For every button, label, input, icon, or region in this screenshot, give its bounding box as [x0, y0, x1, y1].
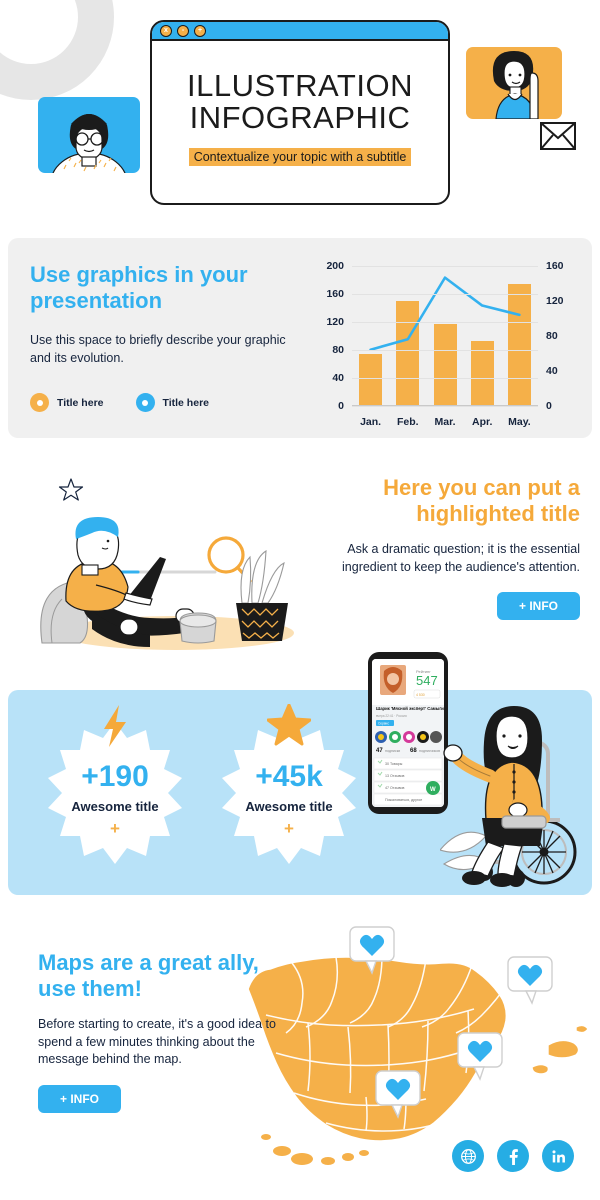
chart-right-axis-tick: 120 [538, 295, 564, 307]
stat-badge-content: +45k Awesome title + [222, 718, 356, 868]
chart-legend: Title here Title here [30, 393, 300, 412]
svg-text:47: 47 [376, 748, 383, 754]
globe-icon[interactable] [452, 1140, 484, 1172]
person-laptop-illustration [30, 493, 302, 653]
chart-left-axis-tick: 160 [326, 288, 352, 300]
avatar-card-orange [466, 47, 562, 119]
stat-badge[interactable]: +190 Awesome title + [48, 718, 182, 868]
window-close-dot[interactable]: x [160, 25, 172, 37]
chart-left-axis-tick: 120 [326, 316, 352, 328]
legend-label-0: Title here [57, 397, 104, 409]
legend-dot-blue-icon [136, 393, 155, 412]
chart-gridline [352, 322, 538, 323]
infographic-page: x - + ILLUSTRATION INFOGRAPHIC Contextua… [0, 0, 600, 1200]
chart-gridline [352, 294, 538, 295]
svg-text:W: W [430, 787, 436, 793]
stat-badge-content: +190 Awesome title + [48, 718, 182, 868]
chart-line-path [371, 278, 520, 350]
chart-x-label: Feb. [389, 416, 426, 428]
browser-window-mockup: x - + ILLUSTRATION INFOGRAPHIC Contextua… [150, 20, 450, 205]
svg-text:13 Отзывов: 13 Отзывов [385, 774, 405, 778]
highlight-section: Here you can put a highlighted title Ask… [0, 455, 600, 670]
chart-section-heading: Use graphics in your presentation [30, 262, 300, 314]
browser-content: ILLUSTRATION INFOGRAPHIC Contextualize y… [152, 41, 448, 203]
svg-text:4 530: 4 530 [416, 693, 425, 697]
phone-mockup: Рейтинг 547 4 530 Шарик 'Мясной эксперт'… [368, 652, 448, 814]
svg-text:47 Отзывов: 47 Отзывов [385, 786, 405, 790]
legend-label-1: Title here [163, 397, 210, 409]
stat-badge-title: Awesome title [71, 799, 158, 814]
chart-left-axis-tick: 0 [338, 400, 352, 412]
svg-text:Пожаловаться, другое: Пожаловаться, другое [385, 798, 422, 802]
stat-badge-plus: + [110, 819, 120, 839]
chart-right-axis-tick: 160 [538, 260, 564, 272]
svg-text:Шарик 'Мясной эксперт' Самыгин: Шарик 'Мясной эксперт' Самыгин [376, 706, 444, 711]
stat-badge[interactable]: +45k Awesome title + [222, 718, 356, 868]
title-line-1: ILLUSTRATION [187, 70, 413, 102]
avatar-woman-icon [466, 47, 562, 119]
chart-right-axis-tick: 40 [538, 365, 558, 377]
highlight-heading: Here you can put a highlighted title [318, 475, 580, 527]
avatar-card-blue [38, 97, 140, 173]
phone-screen: Рейтинг 547 4 530 Шарик 'Мясной эксперт'… [372, 659, 444, 807]
spain-map [236, 915, 600, 1177]
window-minimize-dot[interactable]: - [177, 25, 189, 37]
svg-text:вчера 22:41 · Россия: вчера 22:41 · Россия [376, 714, 407, 718]
chart-x-label: Mar. [426, 416, 463, 428]
combo-chart: 0408012016020004080120160 Jan.Feb.Mar.Ap… [312, 258, 578, 430]
social-links [452, 1140, 574, 1172]
map-info-button[interactable]: + INFO [38, 1085, 121, 1113]
chart-left-axis-tick: 40 [332, 372, 352, 384]
envelope-icon [540, 122, 576, 150]
svg-text:подписчиков: подписчиков [419, 749, 440, 753]
chart-x-label: Jan. [352, 416, 389, 428]
chart-gridline [352, 266, 538, 267]
chart-right-axis-tick: 0 [538, 400, 552, 412]
title-line-2: INFOGRAPHIC [187, 102, 413, 134]
chart-left-axis-tick: 80 [332, 344, 352, 356]
svg-text:547: 547 [416, 673, 438, 688]
stat-badge-plus: + [284, 819, 294, 839]
facebook-icon[interactable] [497, 1140, 529, 1172]
chart-left-axis-tick: 200 [326, 260, 352, 272]
chart-right-axis-tick: 80 [538, 330, 558, 342]
legend-dot-orange-icon [30, 393, 49, 412]
legend-item-1[interactable]: Title here [136, 393, 210, 412]
avatar-man-glasses-icon [38, 97, 140, 173]
svg-text:30 Товары: 30 Товары [385, 762, 403, 766]
page-subtitle: Contextualize your topic with a subtitle [189, 148, 412, 166]
stat-badge-number: +190 [81, 762, 149, 792]
window-maximize-dot[interactable]: + [194, 25, 206, 37]
map-text-block: Maps are a great ally, use them! Before … [38, 950, 288, 1113]
woman-wheelchair-illustration [440, 700, 590, 895]
linkedin-icon[interactable] [542, 1140, 574, 1172]
highlight-body: Ask a dramatic question; it is the essen… [318, 541, 580, 577]
chart-x-label: Apr. [464, 416, 501, 428]
chart-gridline [352, 378, 538, 379]
page-title: ILLUSTRATION INFOGRAPHIC [187, 70, 413, 134]
map-pin [508, 957, 552, 1003]
header-section: x - + ILLUSTRATION INFOGRAPHIC Contextua… [0, 0, 600, 232]
stats-badges: +190 Awesome title + +45k Awesome title … [48, 718, 356, 868]
svg-text:подписки: подписки [385, 749, 400, 753]
highlight-text-block: Here you can put a highlighted title Ask… [318, 475, 580, 620]
chart-x-label: May. [501, 416, 538, 428]
legend-item-0[interactable]: Title here [30, 393, 104, 412]
chart-x-axis-labels: Jan.Feb.Mar.Apr.May. [352, 416, 538, 428]
map-body: Before starting to create, it's a good i… [38, 1016, 288, 1069]
stat-badge-title: Awesome title [245, 799, 332, 814]
stat-badge-number: +45k [255, 762, 323, 792]
chart-gridline [352, 406, 538, 407]
browser-titlebar: x - + [152, 22, 448, 41]
chart-plot-area: 0408012016020004080120160 [352, 266, 538, 406]
svg-text:Сервис: Сервис [378, 722, 389, 726]
map-heading: Maps are a great ally, use them! [38, 950, 288, 1002]
chart-section-text: Use graphics in your presentation Use th… [30, 262, 300, 412]
svg-text:68: 68 [410, 748, 417, 754]
highlight-info-button[interactable]: + INFO [497, 592, 580, 620]
chart-gridline [352, 350, 538, 351]
chart-section-body: Use this space to briefly describe your … [30, 332, 300, 368]
